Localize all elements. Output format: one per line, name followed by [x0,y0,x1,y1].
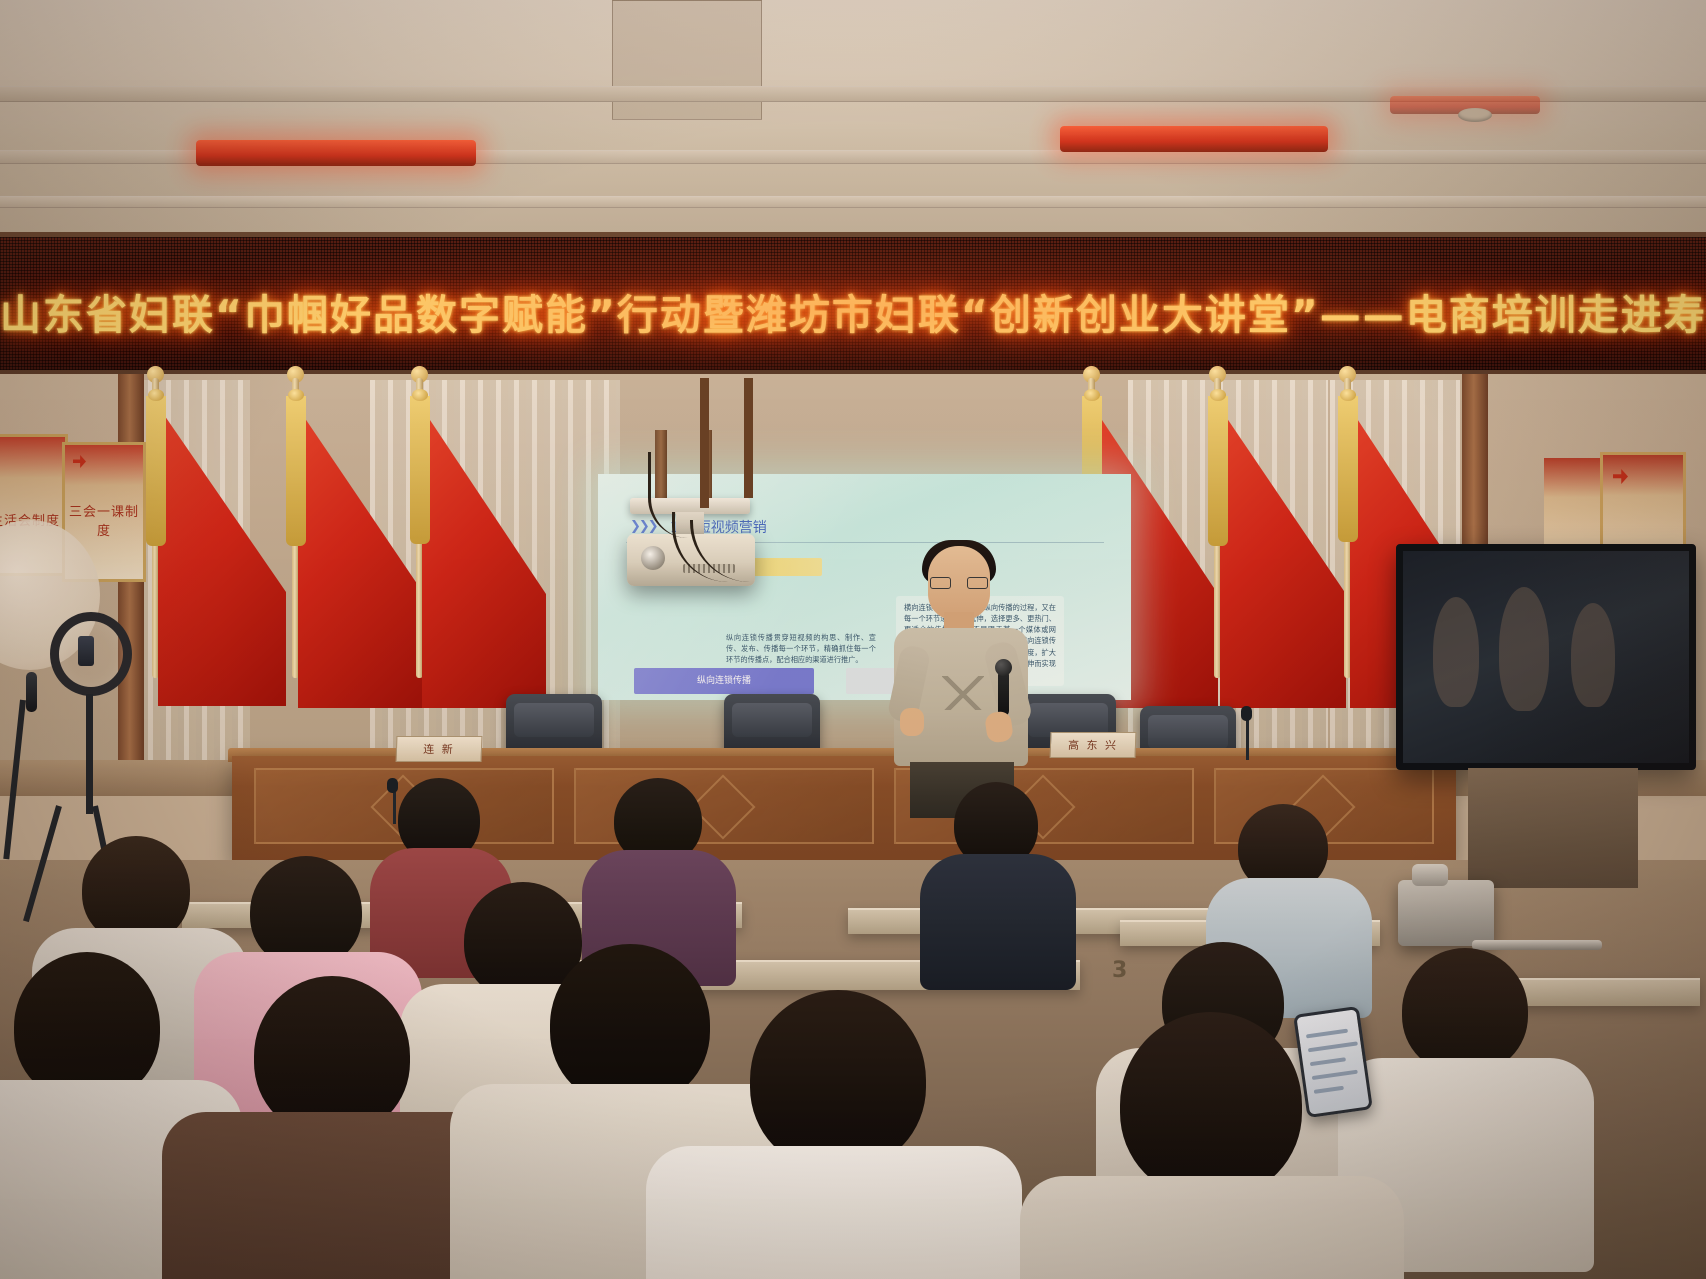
photo-scene: 山东省妇联“巾帼好品数字赋能”行动暨潍坊市妇联“创新创业大讲堂”——电商培训走进… [0,0,1706,1279]
video-camera [1398,880,1494,946]
nameplate: 连 新 [396,736,483,762]
phone-on-ring-light [78,636,94,666]
boom-microphone [26,672,37,712]
slide-button-vertical-chain[interactable]: 纵向连锁传播 [634,668,814,694]
ceiling-light [196,140,476,166]
camera-rail [1472,940,1602,950]
ceiling-drop-pole [700,378,709,508]
ceiling [0,0,1706,250]
stage-chair [724,694,820,754]
ceiling-light [1060,126,1328,152]
tripod-pole [86,694,93,814]
handheld-microphone [998,670,1009,716]
smartphone[interactable] [1293,1006,1373,1118]
party-emblem-icon [73,455,86,468]
tv-figure [1499,587,1549,711]
speaker-left-hand [900,708,924,736]
tv-figure [1433,597,1479,707]
slide-paragraph-left: 纵向连锁传播贯穿短视频的构思、制作、宣传、发布、传播每一个环节，精确抓住每一个环… [726,632,876,665]
nameplate: 高 东 兴 [1050,732,1137,758]
led-banner: 山东省妇联“巾帼好品数字赋能”行动暨潍坊市妇联“创新创业大讲堂”——电商培训走进… [0,232,1706,374]
tv-stand [1468,768,1638,888]
projector-lens-icon [641,546,665,570]
ceiling-drop-pole [744,378,753,498]
desk-microphone-head [1241,706,1252,721]
bench-number: 3 [1112,958,1127,983]
tv-figure [1571,603,1615,707]
glasses-icon [930,577,988,589]
shirt-logo [942,676,984,710]
ceiling-hatch [612,0,762,120]
desk-microphone-stand [1246,716,1249,760]
tv-monitor [1396,544,1696,770]
desk-microphone-stand [393,790,396,824]
wall-poster-label: 三会一课制度 [65,501,143,539]
slide-arrows-icon: ❯❯❯ [630,518,657,534]
desk-microphone-head [387,778,398,793]
stage-chair [506,694,602,754]
led-banner-text: 山东省妇联“巾帼好品数字赋能”行动暨潍坊市妇联“创新创业大讲堂”——电商培训走进… [0,281,1706,341]
speaker-presenter [886,546,1036,816]
party-emblem-icon [1613,469,1628,484]
smoke-detector-icon [1458,108,1492,122]
ceiling-beam [0,196,1706,208]
